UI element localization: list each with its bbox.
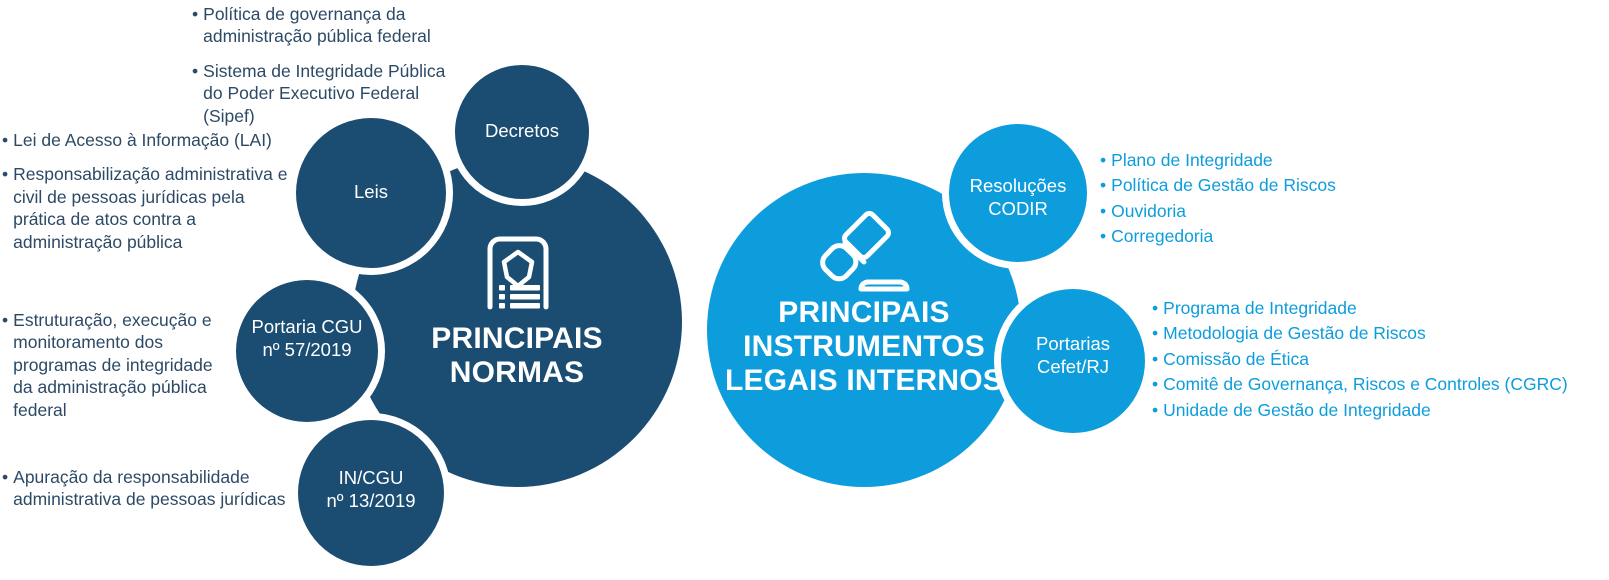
- resolucoes-codir-bullets: • Plano de Integridade • Política de Ges…: [1100, 149, 1520, 251]
- bullet-dot: •: [2, 466, 8, 511]
- bullet-item: • Comitê de Governança, Riscos e Control…: [1152, 373, 1609, 395]
- bullet-dot: •: [1152, 322, 1158, 344]
- bullet-dot: •: [1152, 399, 1158, 421]
- bullet-item: • Política de Gestão de Riscos: [1100, 174, 1520, 196]
- bullet-dot: •: [1100, 225, 1106, 247]
- portaria-cgu-bullets: • Estruturação, execução e monitoramento…: [2, 309, 230, 421]
- label-leis[interactable]: Leis: [301, 181, 441, 204]
- bullet-item: • Sistema de Integridade Pública do Pode…: [192, 60, 454, 127]
- decretos-bullets: • Política de governança da administraçã…: [192, 3, 454, 127]
- portarias-cefet-bullets: • Programa de Integridade • Metodologia …: [1152, 297, 1609, 424]
- bullet-item: • Unidade de Gestão de Integridade: [1152, 399, 1609, 421]
- bullet-dot: •: [1100, 149, 1106, 171]
- bullet-item: • Metodologia de Gestão de Riscos: [1152, 322, 1609, 344]
- label-portarias-cefet[interactable]: Portarias Cefet/RJ: [1003, 333, 1143, 378]
- bullet-item: • Responsabilização administrativa e civ…: [2, 163, 292, 253]
- document-shield-icon: [482, 231, 554, 318]
- gavel-icon: [812, 211, 916, 306]
- label-in-cgu[interactable]: IN/CGU nº 13/2019: [296, 467, 446, 512]
- bullet-item: • Ouvidoria: [1100, 200, 1520, 222]
- bullet-item: • Lei de Acesso à Informação (LAI): [2, 129, 292, 151]
- bullet-item: • Política de governança da administraçã…: [192, 3, 454, 48]
- bullet-item: • Programa de Integridade: [1152, 297, 1609, 319]
- principais-instrumentos-title: PRINCIPAIS INSTRUMENTOS LEGAIS INTERNOS: [724, 296, 1004, 399]
- bullet-item: • Corregedoria: [1100, 225, 1520, 247]
- bullet-item: • Estruturação, execução e monitoramento…: [2, 309, 230, 421]
- bullet-item: • Comissão de Ética: [1152, 348, 1609, 370]
- bullet-item: • Plano de Integridade: [1100, 149, 1520, 171]
- bullet-dot: •: [1152, 348, 1158, 370]
- bullet-item: • Apuração da responsabilidade administr…: [2, 466, 302, 511]
- bullet-dot: •: [2, 163, 8, 253]
- bullet-dot: •: [2, 129, 8, 151]
- bullet-dot: •: [2, 309, 8, 421]
- bullet-dot: •: [1100, 174, 1106, 196]
- bullet-dot: •: [1152, 297, 1158, 319]
- bullet-dot: •: [1100, 200, 1106, 222]
- bullet-dot: •: [192, 3, 198, 48]
- infographic-canvas: PRINCIPAIS NORMAS Decretos Leis Portaria…: [0, 0, 1609, 580]
- label-portaria-cgu[interactable]: Portaria CGU nº 57/2019: [232, 316, 382, 361]
- principais-normas-title: PRINCIPAIS NORMAS: [397, 322, 637, 389]
- label-decretos[interactable]: Decretos: [452, 120, 592, 143]
- in-cgu-bullets: • Apuração da responsabilidade administr…: [2, 466, 302, 511]
- label-resolucoes-codir[interactable]: Resoluções CODIR: [948, 175, 1088, 220]
- bullet-dot: •: [192, 60, 198, 127]
- bullet-dot: •: [1152, 373, 1158, 395]
- leis-bullets: • Lei de Acesso à Informação (LAI) • Res…: [2, 129, 292, 253]
